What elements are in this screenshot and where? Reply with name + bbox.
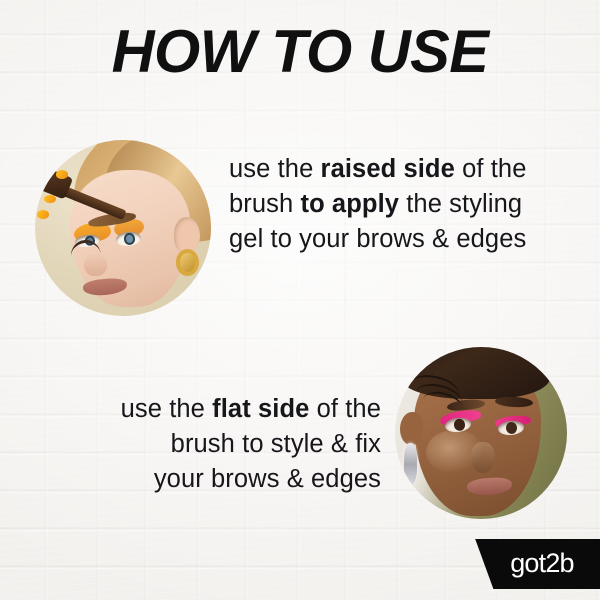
model-ear [400, 412, 422, 445]
step-1-line-2: brush to apply the styling [229, 187, 579, 222]
step-1-instruction-text: use the raised side of the brush to appl… [229, 152, 579, 257]
emphasis-flat-side: flat side [212, 395, 309, 423]
brand-logo-text: got2b [496, 548, 574, 581]
step-2-instruction-text: use the flat side of the brush to style … [35, 392, 381, 497]
gold-hoop-earring [176, 249, 199, 275]
page-title: HOW TO USE [3, 22, 597, 82]
how-to-use-poster: HOW TO USE use the raised side of the br… [0, 0, 600, 600]
emphasis-to-apply: to apply [300, 190, 399, 218]
text-fragment: brush [229, 190, 300, 218]
text-fragment: the styling [399, 190, 522, 218]
text-fragment: of the [455, 155, 527, 183]
model-nose [84, 253, 107, 276]
step-1-line-3: gel to your brows & edges [229, 222, 579, 257]
text-fragment: of the [309, 395, 381, 423]
emphasis-raised-side: raised side [321, 155, 455, 183]
step-1-photo-raised-side [35, 140, 211, 316]
step-2-line-2: brush to style & fix [35, 427, 381, 462]
yellow-flower-petal [56, 170, 68, 179]
text-fragment: use the [229, 155, 321, 183]
model-nose [471, 442, 495, 473]
step-2-photo-flat-side [395, 347, 567, 519]
step-1-line-1: use the raised side of the [229, 152, 579, 187]
model-ear [174, 217, 200, 252]
text-fragment: use the [121, 395, 213, 423]
silver-drop-earring [404, 443, 418, 484]
step-2-line-1: use the flat side of the [35, 392, 381, 427]
step-2-line-3: your brows & edges [35, 462, 381, 497]
